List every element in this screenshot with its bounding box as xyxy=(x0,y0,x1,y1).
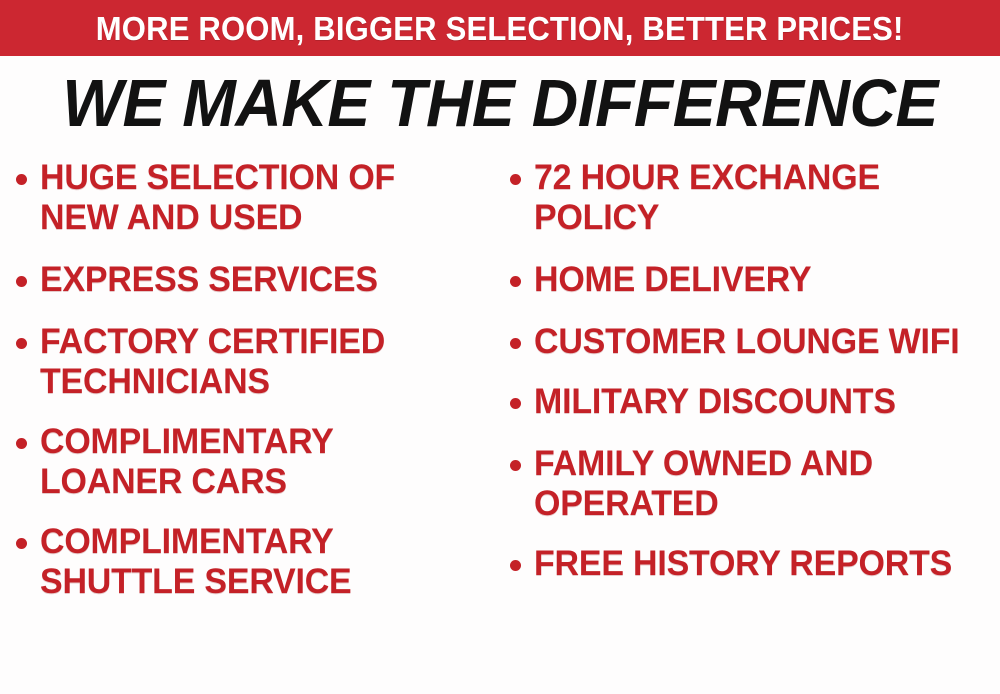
page-title: WE MAKE THE DIFFERENCE xyxy=(62,68,938,140)
list-item: COMPLIMENTARY SHUTTLE SERVICE xyxy=(16,522,496,602)
header-banner-bar: MORE ROOM, BIGGER SELECTION, BETTER PRIC… xyxy=(0,0,1000,56)
promotional-banner: MORE ROOM, BIGGER SELECTION, BETTER PRIC… xyxy=(0,0,1000,694)
benefits-column-right: 72 HOUR EXCHANGE POLICY HOME DELIVERY CU… xyxy=(500,158,1000,603)
list-item-label: 72 HOUR EXCHANGE POLICY xyxy=(534,158,984,238)
benefits-column-left: HUGE SELECTION OF NEW AND USED EXPRESS S… xyxy=(0,158,500,621)
list-item: CUSTOMER LOUNGE WIFI xyxy=(510,322,998,362)
list-item-label: HOME DELIVERY xyxy=(534,260,984,300)
bullet-dot-icon xyxy=(510,460,521,471)
bullet-dot-icon xyxy=(510,338,521,349)
list-item: MILITARY DISCOUNTS xyxy=(510,382,998,422)
bullet-dot-icon xyxy=(16,174,27,185)
list-item-label: HUGE SELECTION OF NEW AND USED xyxy=(40,158,482,238)
list-item: HUGE SELECTION OF NEW AND USED xyxy=(16,158,496,238)
list-item-label: CUSTOMER LOUNGE WIFI xyxy=(534,322,984,362)
list-item: 72 HOUR EXCHANGE POLICY xyxy=(510,158,998,238)
list-item-label: FREE HISTORY REPORTS xyxy=(534,544,984,584)
list-item: FREE HISTORY REPORTS xyxy=(510,544,998,584)
bullet-dot-icon xyxy=(510,276,521,287)
bullet-dot-icon xyxy=(16,538,27,549)
list-item-label: COMPLIMENTARY LOANER CARS xyxy=(40,422,482,502)
bullet-dot-icon xyxy=(510,560,521,571)
bullet-dot-icon xyxy=(16,438,27,449)
bullet-dot-icon xyxy=(510,174,521,185)
bullet-dot-icon xyxy=(16,276,27,287)
list-item-label: EXPRESS SERVICES xyxy=(40,260,482,300)
list-item-label: FAMILY OWNED AND OPERATED xyxy=(534,444,984,524)
headline-container: WE MAKE THE DIFFERENCE xyxy=(0,68,1000,140)
list-item: EXPRESS SERVICES xyxy=(16,260,496,300)
list-item-label: FACTORY CERTIFIED TECHNICIANS xyxy=(40,322,482,402)
list-item: HOME DELIVERY xyxy=(510,260,998,300)
list-item: COMPLIMENTARY LOANER CARS xyxy=(16,422,496,502)
bullet-dot-icon xyxy=(510,398,521,409)
list-item-label: COMPLIMENTARY SHUTTLE SERVICE xyxy=(40,522,482,602)
benefits-columns: HUGE SELECTION OF NEW AND USED EXPRESS S… xyxy=(0,158,1000,694)
header-tagline: MORE ROOM, BIGGER SELECTION, BETTER PRIC… xyxy=(96,12,904,45)
list-item: FAMILY OWNED AND OPERATED xyxy=(510,444,998,524)
bullet-dot-icon xyxy=(16,338,27,349)
list-item: FACTORY CERTIFIED TECHNICIANS xyxy=(16,322,496,402)
list-item-label: MILITARY DISCOUNTS xyxy=(534,382,984,422)
